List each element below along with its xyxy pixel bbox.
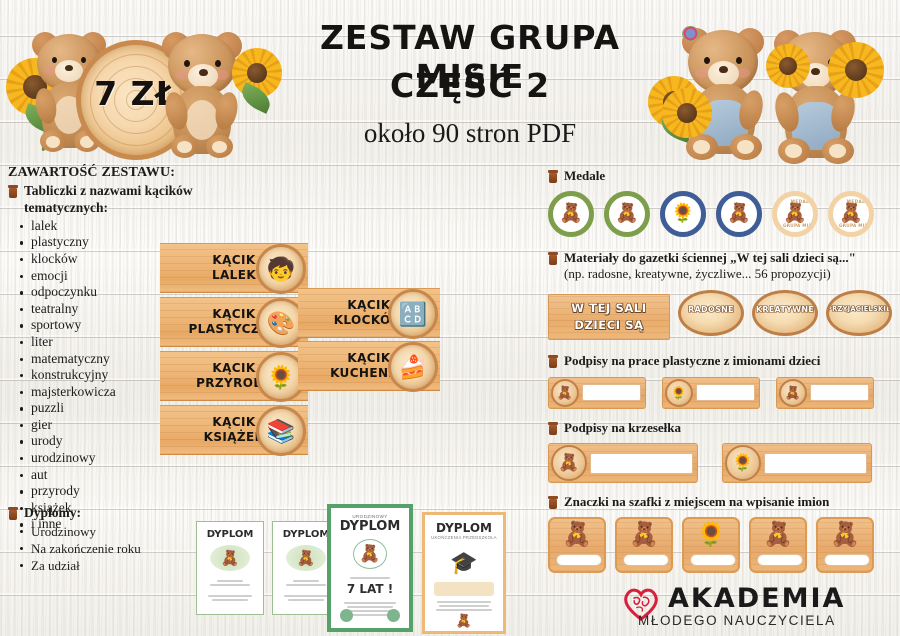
chair-name-tag: 🧸 — [548, 443, 698, 483]
bear-glyph: 🧸 — [562, 523, 592, 547]
banner-line1: W TEJ SALI — [571, 300, 646, 317]
sign-line1: KĄCIK — [212, 307, 255, 321]
sign-line1: KĄCIK — [212, 415, 255, 429]
medal-bottom-text: GRUPA MISIE — [553, 223, 594, 228]
wood-slice-radosne: RADOSNE — [678, 290, 744, 336]
podpisy-krzeselka-heading-label: Podpisy na krzesełka — [564, 420, 681, 437]
diploma-card-1: DYPLOM 🧸 — [196, 521, 264, 615]
locker-badge: 🌻 — [682, 517, 740, 573]
gazetka-row: W TEJ SALI DZIECI SĄ RADOSNE KREATYWNE P… — [548, 287, 896, 340]
bear-glyph: 🧸 — [727, 204, 751, 223]
bear-glyph: 🌻 — [671, 204, 695, 223]
medal-top-text: MEDAL — [609, 199, 650, 204]
list-item: lalek — [18, 218, 208, 235]
name-tag: 🌻 — [662, 377, 760, 409]
medal-bottom-text: GRUPA MISIE — [777, 223, 818, 228]
bear-glyph: 🌻 — [696, 523, 726, 547]
name-write-line — [764, 453, 867, 474]
diplomas-item-list: UrodzinowyNa zakończenie rokuZa udział — [18, 523, 208, 574]
list-item: Za udział — [18, 557, 208, 574]
honey-pot-icon-6 — [548, 422, 558, 435]
bear-glyph: 🧸 — [221, 549, 240, 568]
wood-slice-przyjacielskie: PRZYJACIELSKIE — [826, 290, 892, 336]
sunflower-icon-6 — [766, 44, 810, 88]
medal-badge: MEDAL🧸GRUPA MISIE — [604, 191, 650, 237]
sign-line1: KĄCIK — [347, 351, 390, 365]
podpisy-krzeselka-row: 🧸🌻 — [548, 443, 896, 483]
locker-badge: 🧸 — [749, 517, 807, 573]
name-tag: 🧸 — [776, 377, 874, 409]
name-tag: 🧸 — [548, 377, 646, 409]
corners-heading: Tabliczki z nazwami kącików tematycznych… — [8, 183, 208, 217]
right-panel: Medale MEDAL🧸GRUPA MISIEMEDAL🧸GRUPA MISI… — [548, 168, 896, 573]
bear-medallion-icon: 🌻 — [665, 379, 693, 407]
diploma-card-3-urodzinowy: URODZINOWY DYPLOM 🧸 7 LAT ! — [327, 504, 413, 632]
list-item: Na zakończenie roku — [18, 540, 208, 557]
doll-icon: 🧒 — [256, 244, 306, 294]
sign-kacik-klockow: KĄCIKKLOCKÓW 🔠 — [298, 288, 440, 338]
medal-bottom-text: GRUPA MISIE — [665, 223, 706, 228]
diploma-title: DYPLOM — [425, 521, 503, 535]
honey-pot-icon-4 — [548, 252, 558, 265]
mixer-icon: 🍰 — [388, 342, 438, 392]
diplomas-heading: Dyplomy: — [8, 505, 208, 522]
bear-glyph: 🧸 — [629, 523, 659, 547]
name-write-line — [757, 554, 803, 566]
diploma-title: DYPLOM — [197, 529, 263, 540]
medal-top-text: MEDAL — [721, 199, 762, 204]
medal-badge: MEDAL🧸GRUPA MISIE — [548, 191, 594, 237]
locker-badge: 🧸 — [615, 517, 673, 573]
bear-glyph: 🧸 — [559, 204, 583, 223]
honey-pot-icon-3 — [548, 170, 558, 183]
books-icon: 📚 — [256, 406, 306, 456]
w-tej-sali-banner: W TEJ SALI DZIECI SĄ — [548, 294, 670, 340]
diploma-subtitle: UKOŃCZENIA PRZEDSZKOLA — [425, 535, 503, 540]
znaczki-row: 🧸🧸🌻🧸🧸 — [548, 517, 896, 573]
name-write-line — [556, 554, 602, 566]
bear-medallion-icon: 🧸 — [551, 445, 587, 481]
contents-list-panel: ZAWARTOŚĆ ZESTAWU: Tabliczki z nazwami k… — [8, 165, 208, 533]
medal-badge: MEDAL🧸GRUPA MISIE — [772, 191, 818, 237]
poster-header: 7 ZŁ ZESTAW GRUPA MIS — [0, 0, 900, 168]
sign-line1: KĄCIK — [212, 361, 255, 375]
sign-kacik-lalek: KĄCIKLALEK 🧒 — [160, 243, 308, 293]
list-item: przyrody — [18, 483, 208, 500]
podpisy-prace-heading-label: Podpisy na prace plastyczne z imionami d… — [564, 353, 820, 370]
medal-bottom-text: GRUPA MISIE — [833, 223, 874, 228]
list-item: Urodzinowy — [18, 523, 208, 540]
name-write-line — [623, 554, 669, 566]
bear-glyph: 🧸 — [615, 204, 639, 223]
logo-name: AKADEMIA — [668, 583, 845, 614]
name-write-line — [590, 453, 693, 474]
medal-top-text: MEDAL — [553, 199, 594, 204]
sign-line1: KĄCIK — [347, 298, 390, 312]
gazetka-heading: Materiały do gazetki ściennej „W tej sal… — [548, 250, 896, 283]
sign-kacik-przyrody: KĄCIKPRZYRODY 🌻 — [160, 351, 308, 401]
sign-kacik-ksiazek: KĄCIKKSIĄŻEK 📚 — [160, 405, 308, 455]
bear-glyph: 🧸 — [297, 549, 316, 568]
medals-heading-label: Medale — [564, 168, 605, 185]
medal-badge: MEDAL🧸GRUPA MISIE — [716, 191, 762, 237]
name-write-line — [810, 384, 869, 401]
medal-badge: MEDAL🌻GRUPA MISIE — [660, 191, 706, 237]
diplomas-heading-label: Dyplomy: — [24, 505, 81, 522]
gazetka-heading-label: Materiały do gazetki ściennej „W tej sal… — [564, 250, 856, 283]
bear-glyph: 🧸 — [763, 523, 793, 547]
diploma-card-4-ukonczenia: DYPLOM UKOŃCZENIA PRZEDSZKOLA 🎓 🧸 — [422, 512, 506, 634]
honey-pot-icon-2 — [8, 507, 18, 520]
bear-glyph: 🧸 — [830, 523, 860, 547]
honey-pot-icon — [8, 185, 18, 198]
znaczki-heading-label: Znaczki na szafki z miejscem na wpisanie… — [564, 494, 829, 511]
name-write-line — [582, 384, 641, 401]
bear-glyph: 🧸 — [359, 544, 380, 564]
chair-name-tag: 🌻 — [722, 443, 872, 483]
graduation-cap-icon: 🎓 — [450, 550, 477, 576]
name-write-line — [696, 384, 755, 401]
name-write-line — [824, 554, 870, 566]
brand-logo: AKADEMIA MŁODEGO NAUCZYCIELA — [600, 583, 900, 633]
sign-line2: LALEK — [212, 268, 256, 282]
list-item: aut — [18, 467, 208, 484]
contents-title: ZAWARTOŚĆ ZESTAWU: — [8, 165, 208, 181]
locker-badge: 🧸 — [548, 517, 606, 573]
diplomas-list-panel: Dyplomy: UrodzinowyNa zakończenie rokuZa… — [8, 505, 208, 574]
medals-row: MEDAL🧸GRUPA MISIEMEDAL🧸GRUPA MISIEMEDAL🌻… — [548, 191, 896, 237]
name-write-line — [690, 554, 736, 566]
poster-title-line2: CZĘŚĆ 2 — [270, 66, 670, 105]
poster-subtitle: około 90 stron PDF — [270, 118, 670, 149]
banner-line2: DZIECI SĄ — [574, 317, 643, 334]
bear-glyph: 🧸 — [839, 204, 863, 223]
medal-top-text: MEDAL — [777, 199, 818, 204]
corners-heading-label: Tabliczki z nazwami kącików tematycznych… — [24, 183, 208, 217]
bear-medallion-icon: 🧸 — [779, 379, 807, 407]
medal-bottom-text: GRUPA MISIE — [609, 223, 650, 228]
medals-heading: Medale — [548, 168, 896, 185]
diploma-big-text: 7 LAT ! — [331, 582, 409, 596]
wood-slice-kreatywne: KREATYWNE — [752, 290, 818, 336]
medal-top-text: MEDAL — [833, 199, 874, 204]
sign-kacik-kuchenny: KĄCIKKUCHENNY 🍰 — [298, 341, 440, 391]
sunflower-icon-4 — [662, 88, 712, 138]
honey-pot-icon-5 — [548, 355, 558, 368]
bear-medallion-icon: 🧸 — [551, 379, 579, 407]
bear-medallion-icon: 🌻 — [725, 445, 761, 481]
sign-kacik-plastyczny: KĄCIKPLASTYCZNY 🎨 — [160, 297, 308, 347]
medal-top-text: MEDAL — [665, 199, 706, 204]
podpisy-prace-row: 🧸🌻🧸 — [548, 377, 896, 409]
locker-badge: 🧸 — [816, 517, 874, 573]
honey-pot-icon-7 — [548, 496, 558, 509]
abc-blocks-icon: 🔠 — [388, 289, 438, 339]
bear-glyph: 🧸 — [783, 204, 807, 223]
logo-tagline: MŁODEGO NAUCZYCIELA — [638, 613, 836, 628]
medal-badge: MEDAL🧸GRUPA MISIE — [828, 191, 874, 237]
sunflower-icon-5 — [828, 42, 884, 98]
sign-line1: KĄCIK — [212, 253, 255, 267]
medal-bottom-text: GRUPA MISIE — [721, 223, 762, 228]
podpisy-krzeselka-heading: Podpisy na krzesełka — [548, 420, 896, 437]
diploma-title: DYPLOM — [331, 519, 409, 534]
podpisy-prace-heading: Podpisy na prace plastyczne z imionami d… — [548, 353, 896, 370]
poster-canvas: 7 ZŁ ZESTAW GRUPA MIS — [0, 0, 900, 636]
znaczki-heading: Znaczki na szafki z miejscem na wpisanie… — [548, 494, 896, 511]
